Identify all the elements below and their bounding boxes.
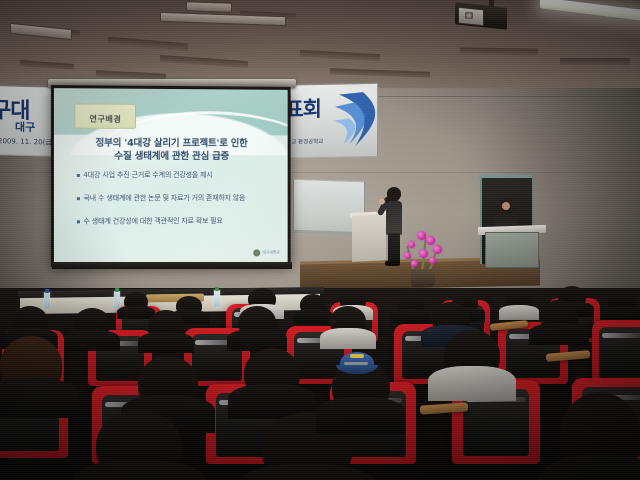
orchid-bloom: [411, 260, 418, 267]
orchid-bloom: [417, 231, 426, 240]
slide-headline-line2: 수질 생태계에 관한 관심 급증: [54, 150, 288, 163]
slide-bullet: 4대강 사업 추진 근거로 수계의 건강성을 제시: [76, 171, 280, 180]
orchid-pot: [411, 269, 435, 287]
cap-logo-icon: [350, 354, 364, 358]
auditorium-photo: 구대 대구 2009. 11. 20(금) 발표회 표회 대구대학교 환경공학교…: [0, 0, 640, 480]
university-mark-icon: [254, 249, 261, 256]
baseball-cap: [340, 352, 374, 374]
audience-member: [398, 294, 424, 315]
lectern: [485, 232, 539, 268]
orchid-bloom: [429, 257, 436, 264]
audience-member: [238, 306, 276, 338]
slide-logo-text: 대구대학교: [263, 250, 280, 255]
audience-member: [74, 308, 110, 338]
banner-swoosh-icon: [333, 90, 378, 151]
slide-bullet: 국내 수 생태계에 관한 논문 및 자료가 거의 존재하지 않음: [76, 194, 280, 203]
audience-member: [608, 290, 636, 312]
projector-lens-icon: [465, 12, 473, 19]
orchid-bloom: [426, 236, 435, 245]
audience-member: [244, 348, 300, 398]
side-table: [352, 214, 386, 262]
orchid-bloom: [419, 249, 428, 258]
ceiling-light-fixture: [10, 23, 72, 41]
audience-member: [330, 306, 366, 336]
slide-university-logo: 대구대학교: [254, 249, 280, 256]
audience-member: [148, 310, 184, 340]
slide-bullet: 수 생태계 건강성에 대한 객관적인 자료 확보 필요: [76, 217, 280, 227]
audience-member: [96, 410, 182, 480]
slide-headline-line1: 정부의 '4대강 살리기 프로젝트'로 인한: [54, 137, 288, 151]
audience-member: [124, 292, 148, 311]
screen-bottom-bar: [52, 262, 292, 269]
audience-member: [444, 330, 500, 380]
audience-member: [540, 300, 578, 332]
slide-headline: 정부의 '4대강 살리기 프로젝트'로 인한 수질 생태계에 관한 관심 급증: [54, 137, 288, 164]
presentation-slide: 연구배경 정부의 '4대강 살리기 프로젝트'로 인한 수질 생태계에 관한 관…: [54, 88, 288, 264]
audience-member: [506, 290, 532, 311]
slide-section-title: 연구배경: [90, 115, 122, 124]
water-bottle: [214, 290, 220, 307]
seat: [592, 320, 640, 384]
audience-member: [0, 336, 62, 394]
orchid-plant: [395, 225, 451, 287]
person-at-lectern-face: [502, 202, 510, 210]
ceiling-light-fixture: [186, 1, 232, 13]
orchid-bloom: [408, 241, 415, 248]
projection-screen: 연구배경 정부의 '4대강 살리기 프로젝트'로 인한 수질 생태계에 관한 관…: [51, 85, 291, 267]
orchid-bloom: [433, 245, 442, 254]
orchid-bloom: [404, 252, 411, 259]
audience-member: [300, 294, 326, 315]
slide-section-title-box: 연구배경: [74, 103, 136, 128]
audience-member: [138, 356, 198, 410]
banner-left-date: 2009. 11. 20(금): [0, 136, 54, 148]
banner-left-subtitle: 대구: [15, 119, 35, 136]
audience-member: [560, 392, 640, 480]
slide-bullet-list: 4대강 사업 추진 근거로 수계의 건강성을 제시 국내 수 생태계에 관한 논…: [76, 171, 280, 241]
audience-member: [12, 306, 48, 336]
fluorescent-light-strip: [540, 0, 640, 22]
